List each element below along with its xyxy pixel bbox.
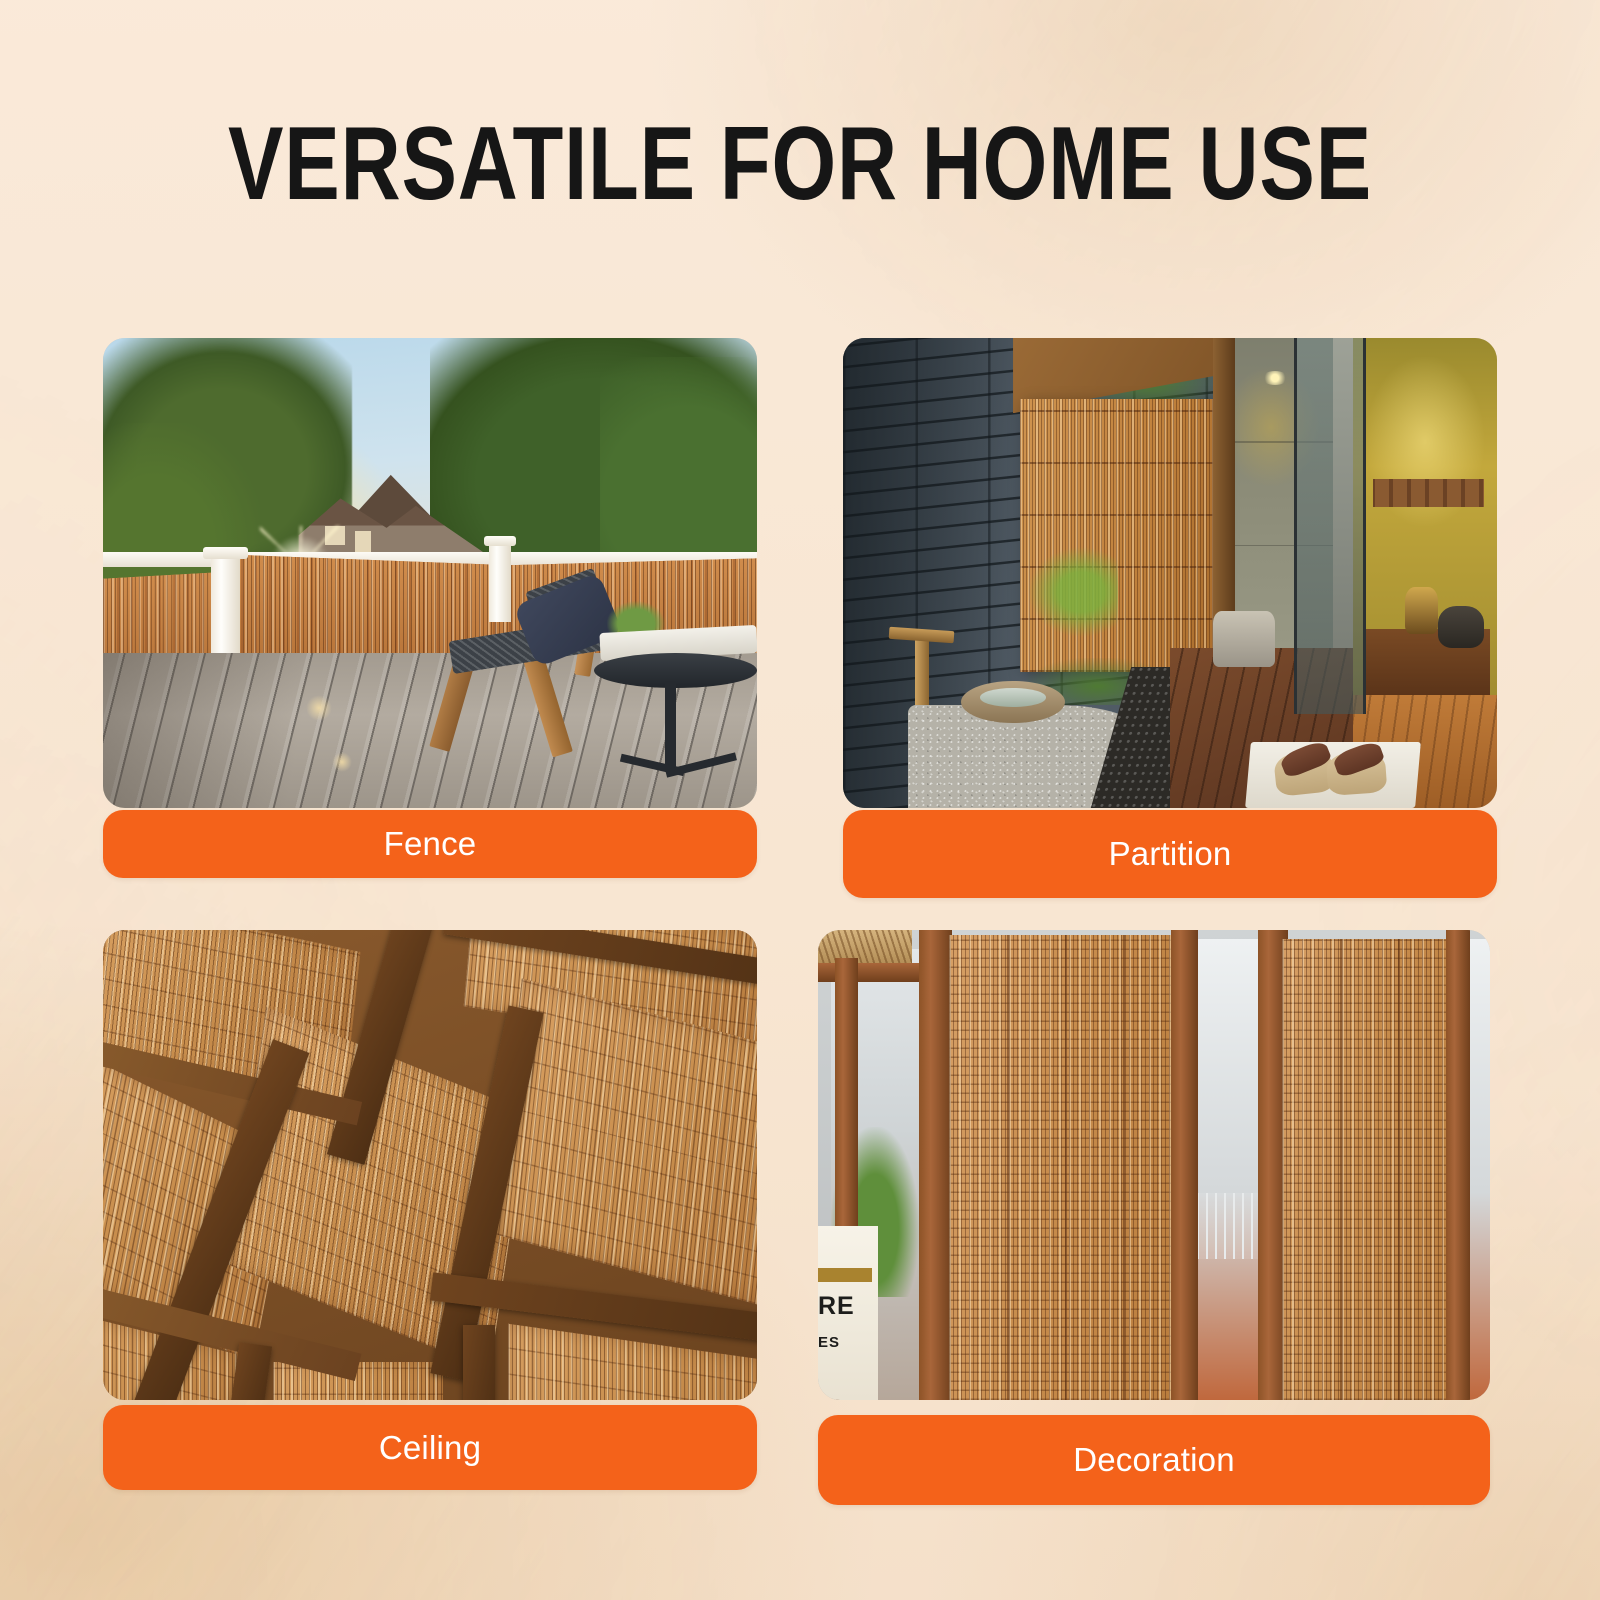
card-decoration-photo: RE ES bbox=[818, 930, 1490, 1400]
card-ceiling-label[interactable]: Ceiling bbox=[103, 1405, 757, 1490]
card-fence-label-text: Fence bbox=[384, 825, 477, 863]
railing-post-right bbox=[489, 542, 511, 622]
card-partition-label[interactable]: Partition bbox=[843, 810, 1497, 898]
card-ceiling[interactable]: Ceiling bbox=[103, 930, 757, 1400]
card-partition-photo bbox=[843, 338, 1497, 808]
card-partition[interactable]: Partition bbox=[843, 338, 1497, 808]
card-ceiling-label-text: Ceiling bbox=[379, 1429, 481, 1467]
reed-roller-blind bbox=[949, 935, 1191, 1400]
railing-post-cap-left bbox=[203, 547, 247, 559]
city-view-middle bbox=[1188, 939, 1269, 1400]
basin-water bbox=[980, 688, 1045, 707]
stone-pedestal bbox=[1213, 611, 1275, 667]
card-partition-label-text: Partition bbox=[1109, 835, 1232, 873]
iron-tea-kettle bbox=[1438, 606, 1484, 648]
lens-flare bbox=[332, 752, 352, 772]
house-window bbox=[355, 531, 371, 552]
deck-shadow bbox=[103, 653, 378, 808]
display-shelf-grid bbox=[1373, 479, 1484, 507]
sign-text-line-1: RE bbox=[818, 1292, 855, 1321]
side-table-leg bbox=[665, 681, 675, 770]
railing-post-cap-right bbox=[484, 536, 517, 545]
window-frame-post bbox=[1446, 930, 1470, 1400]
sign-gold-band bbox=[818, 1268, 872, 1282]
sign-text-line-2: ES bbox=[818, 1334, 840, 1351]
card-fence[interactable]: Fence bbox=[103, 338, 757, 808]
sliding-glass-door bbox=[1294, 338, 1365, 714]
card-decoration[interactable]: RE ES Decoration bbox=[818, 930, 1490, 1400]
card-ceiling-photo bbox=[103, 930, 757, 1400]
balcony-railing bbox=[1188, 1193, 1269, 1259]
page-title: VERSATILE FOR HOME USE bbox=[160, 112, 1440, 216]
reed-roller-blind bbox=[1282, 939, 1457, 1400]
ceramic-jar bbox=[1405, 587, 1438, 634]
ceiling-beam-vertical bbox=[463, 1325, 496, 1400]
ceiling-spot-light bbox=[1262, 371, 1288, 385]
card-fence-photo bbox=[103, 338, 757, 808]
card-decoration-label[interactable]: Decoration bbox=[818, 1415, 1490, 1505]
lens-flare bbox=[306, 695, 332, 721]
window-frame-header bbox=[818, 963, 919, 982]
card-fence-label[interactable]: Fence bbox=[103, 810, 757, 878]
japanese-maple-branch bbox=[1026, 545, 1118, 639]
card-decoration-label-text: Decoration bbox=[1073, 1441, 1235, 1479]
window-frame-post bbox=[919, 930, 953, 1400]
window-frame-post bbox=[1171, 930, 1198, 1400]
